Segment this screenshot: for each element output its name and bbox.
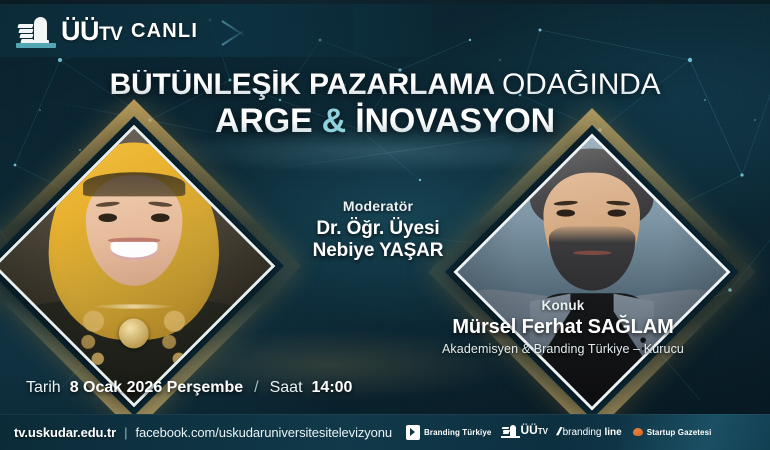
uskudar-tower-icon <box>18 10 56 50</box>
logo-text-tv: TV <box>99 24 122 45</box>
moderator-name-line1: Dr. Öğr. Üyesi <box>258 218 498 240</box>
branding-line-slash-icon: // <box>555 426 561 438</box>
guest-name: Mürsel Ferhat SAĞLAM <box>398 316 728 340</box>
title-line1-light: ODAĞINDA <box>502 68 660 101</box>
guest-photo <box>453 133 730 410</box>
title-line1-strong: BÜTÜNLEŞİK PAZARLAMA <box>110 68 494 101</box>
partner-logos: Branding Türkiye ÜÜTV // branding line S… <box>406 423 711 441</box>
time-value: 14:00 <box>312 379 353 397</box>
broadcast-promo-banner: ÜÜTV CANLI BÜTÜNLEŞİK PAZARLAMA ODAĞINDA… <box>0 0 770 450</box>
moderator-photo <box>0 125 275 408</box>
logo-wordmark: ÜÜTV <box>61 18 122 50</box>
moderator-name: Dr. Öğr. Üyesi Nebiye YAŞAR <box>258 218 498 263</box>
partner-branding-turkiye[interactable]: Branding Türkiye <box>406 425 491 440</box>
date-label: Tarih <box>26 379 61 397</box>
moderator-name-line2: Nebiye YAŞAR <box>258 240 498 262</box>
footer-divider: | <box>124 425 127 440</box>
uutv-logo[interactable]: ÜÜTV <box>18 10 122 50</box>
title-line2-ampersand: & <box>322 102 346 140</box>
title-line-1: BÜTÜNLEŞİK PAZARLAMA ODAĞINDA <box>0 70 770 100</box>
partner-branding-line[interactable]: // branding line <box>557 426 621 438</box>
logo-text-main: ÜÜ <box>61 16 99 46</box>
date-value: 8 Ocak 2026 Perşembe <box>70 379 243 397</box>
moderator-portrait-art <box>0 128 272 403</box>
partner-label: Startup Gazetesi <box>647 428 712 437</box>
website-link[interactable]: tv.uskudar.edu.tr <box>14 425 116 440</box>
schedule-row: Tarih 8 Ocak 2026 Perşembe / Saat 14:00 <box>26 379 352 397</box>
partner-uutv-main: ÜÜ <box>520 423 537 437</box>
partner-label: Branding Türkiye <box>424 428 491 437</box>
time-label: Saat <box>270 379 303 397</box>
moderator-info: Moderatör Dr. Öğr. Üyesi Nebiye YAŞAR <box>258 198 498 263</box>
guest-subtitle: Akademisyen & Branding Türkiye – Kurucu <box>398 342 728 356</box>
moderator-role-label: Moderatör <box>258 198 498 214</box>
partner-uutv-tv: TV <box>538 427 548 436</box>
partner-startup-gazetesi[interactable]: Startup Gazetesi <box>633 428 712 437</box>
guest-role-label: Konuk <box>398 298 728 313</box>
title-line2-part1: ARGE <box>215 102 312 140</box>
partner-uutv[interactable]: ÜÜTV <box>502 423 546 441</box>
facebook-link[interactable]: facebook.com/uskudaruniversitesitelevizy… <box>135 425 392 440</box>
footer-bar: tv.uskudar.edu.tr | facebook.com/uskudar… <box>0 414 770 450</box>
branding-turkiye-b-icon <box>406 425 420 440</box>
live-badge-label: CANLI <box>131 20 198 43</box>
chevron-right-icon <box>222 15 258 49</box>
schedule-separator: / <box>252 379 260 397</box>
guest-info: Konuk Mürsel Ferhat SAĞLAM Akademisyen &… <box>398 298 728 356</box>
startup-gazetesi-dot-icon <box>633 428 643 436</box>
guest-portrait-art <box>457 137 727 407</box>
partner-label-part2: line <box>604 427 621 438</box>
title-line2-part2: İNOVASYON <box>355 102 555 140</box>
partner-label-part1: branding <box>563 427 602 438</box>
uutv-logo-icon: ÜÜTV <box>502 423 546 441</box>
